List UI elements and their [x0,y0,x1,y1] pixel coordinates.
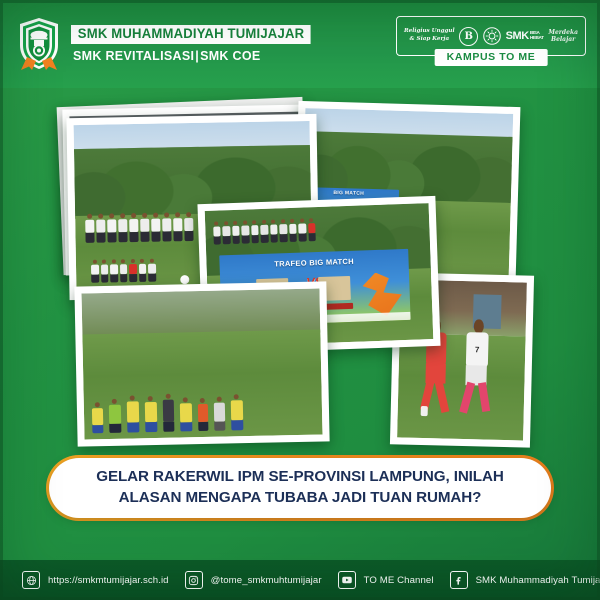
sun-flower-emblem-svg [483,27,501,45]
poster-header: SMK MUHAMMADIYAH TUMIJAJAR SMK REVITALIS… [0,0,600,88]
tagline-revitalisasi: SMK REVITALISASI [73,49,194,63]
jersey-number: 7 [465,332,489,368]
yellow-kit-players-photo [74,281,329,446]
footer-instagram-label: @tome_smkmuhtumijajar [211,575,322,586]
social-media-poster: SMK MUHAMMADIYAH TUMIJAJAR SMK REVITALIS… [0,0,600,600]
school-tagline: SMK REVITALISASI|SMK COE [71,49,318,63]
footer-website-label: https://smkmtumijajar.sch.id [48,575,169,586]
globe-icon [22,571,40,589]
youtube-icon [338,571,356,589]
headline-banner: GELAR RAKERWIL IPM SE-PROVINSI LAMPUNG, … [46,455,554,521]
facebook-icon [450,571,468,589]
kampus-to-me-banner: KAMPUS TO ME [435,49,548,66]
merdeka-belajar-logo: Merdeka Belajar [548,29,578,44]
accreditation-badge: B [459,27,478,46]
smk-bisa-hebat-logo: SMK BISA HEBAT [506,30,544,42]
school-crest-shield-icon [17,17,61,71]
brand-block: SMK MUHAMMADIYAH TUMIJAJAR SMK REVITALIS… [17,17,318,71]
footer-item-website[interactable]: https://smkmtumijajar.sch.id [22,571,169,589]
smk-logo-text: SMK [506,30,529,42]
motto-text-block: Religius Unggul & Siap Kerja [404,28,455,43]
instagram-icon [185,571,203,589]
photo-collage: BIG MATCH VS [0,88,600,458]
poster-footer: https://smkmtumijajar.sch.id @tome_smkmu… [0,560,600,600]
headline-text: GELAR RAKERWIL IPM SE-PROVINSI LAMPUNG, … [49,467,551,508]
school-name: SMK MUHAMMADIYAH TUMIJAJAR [71,25,311,44]
partner-logos-group: Religius Unggul & Siap Kerja B [396,16,586,56]
tagline-coe: SMK COE [200,49,260,63]
accreditation-grade: B [459,27,478,46]
merdeka-belajar-text: Merdeka Belajar [548,29,578,44]
footer-item-instagram[interactable]: @tome_smkmuhtumijajar [185,571,322,589]
footer-youtube-label: TO ME Channel [364,575,434,586]
motto-text: Religius Unggul & Siap Kerja [404,28,455,43]
sun-flower-emblem-icon [483,27,501,45]
footer-item-facebook[interactable]: SMK Muhammadiyah Tumijajar [450,571,600,589]
footer-item-youtube[interactable]: TO ME Channel [338,571,434,589]
smk-logo-subtext: BISA HEBAT [530,31,544,41]
footer-facebook-label: SMK Muhammadiyah Tumijajar [476,575,600,586]
banner-title: TRAFEO BIG MATCH [220,255,408,271]
